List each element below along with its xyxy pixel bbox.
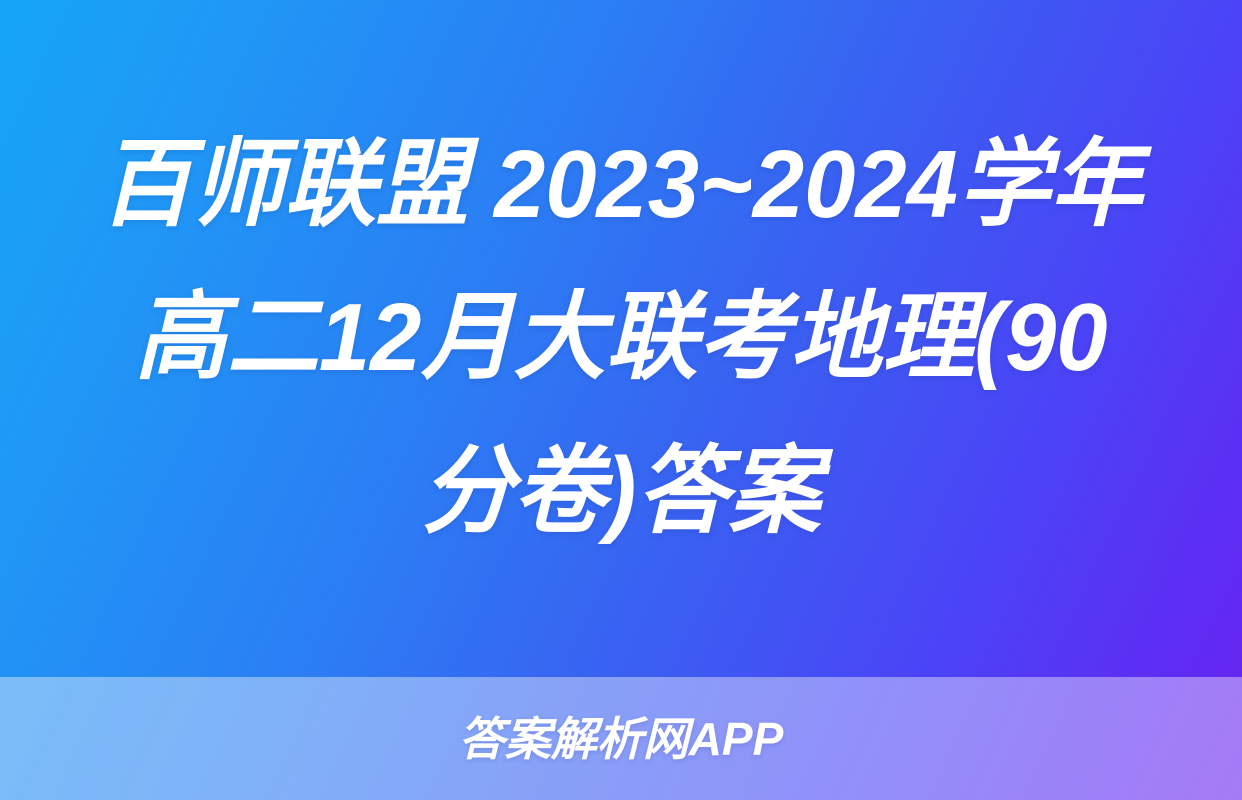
page-title: 百师联盟 2023~2024学年高二12月大联考地理(90分卷)答案 [96,108,1146,569]
app-brand-label: 答案解析网APP [459,716,784,762]
title-area: 百师联盟 2023~2024学年高二12月大联考地理(90分卷)答案 [0,0,1242,676]
answer-promo-card: 百师联盟 2023~2024学年高二12月大联考地理(90分卷)答案 答案解析网… [0,0,1242,800]
footer-band: 答案解析网APP [0,677,1242,800]
